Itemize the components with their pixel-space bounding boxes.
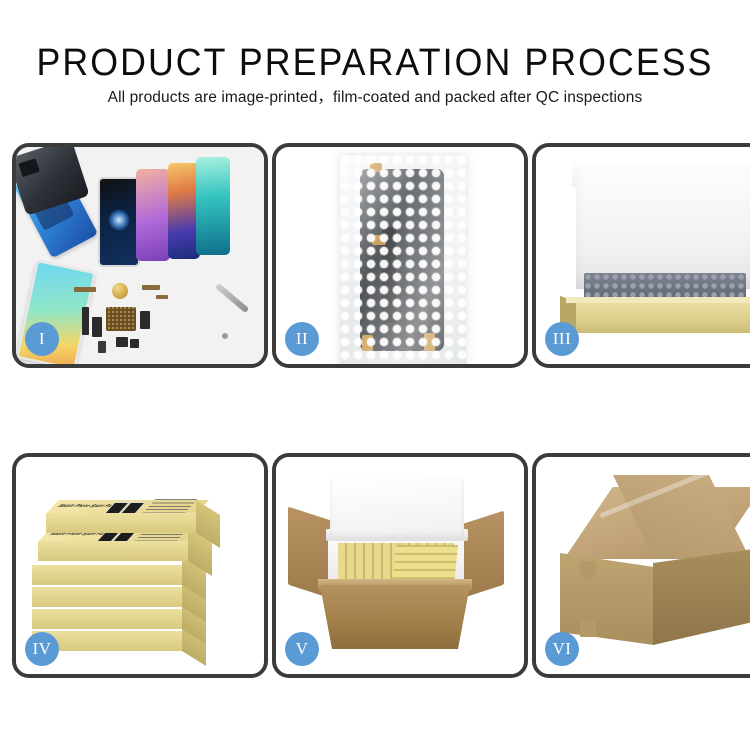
box-stack: Mobile Phone Spare Parts Mobile Phone Sp… — [32, 479, 242, 661]
process-step-card-2[interactable]: II — [272, 143, 528, 368]
process-step-card-1[interactable]: I — [12, 143, 268, 368]
stacked-box-2: Mobile Phone Spare Parts — [38, 541, 188, 561]
foam-cooler-lid — [330, 477, 464, 539]
page-subtitle: All products are image-printed，film-coat… — [0, 88, 750, 108]
carton-tape-lower — [580, 621, 596, 637]
process-step-card-6[interactable]: VI — [532, 453, 750, 678]
carton-left-face — [560, 553, 654, 645]
step-badge-1: I — [25, 322, 59, 356]
screwdriver-icon — [215, 283, 249, 313]
step-badge-6: VI — [545, 632, 579, 666]
chip-part-2 — [142, 285, 160, 290]
chip-part-3 — [156, 295, 168, 299]
product-preparation-infographic: PRODUCT PREPARATION PROCESS All products… — [0, 0, 750, 750]
carton-tape-upper — [580, 561, 596, 579]
page-title: PRODUCT PREPARATION PROCESS — [23, 42, 728, 84]
process-step-grid: I II III — [12, 143, 738, 678]
phone-display-black — [98, 177, 140, 267]
step-badge-2: II — [285, 322, 319, 356]
small-part-2 — [130, 339, 139, 348]
stacked-box-1: Mobile Phone Spare Parts — [46, 513, 196, 533]
step-badge-5: V — [285, 632, 319, 666]
gold-component-icon — [112, 283, 128, 299]
stacked-box-4 — [32, 587, 182, 607]
yellow-box-tray — [566, 299, 750, 333]
box-front-edge — [566, 297, 750, 303]
carton-body — [320, 585, 470, 649]
connector-grid-icon — [106, 307, 136, 331]
step-badge-3: III — [545, 322, 579, 356]
process-step-card-4[interactable]: Mobile Phone Spare Parts Mobile Phone Sp… — [12, 453, 268, 678]
flex-cable-2 — [92, 317, 102, 337]
flex-cable-4 — [116, 337, 128, 347]
carton-right-face — [653, 549, 750, 645]
flex-cable-3 — [140, 311, 150, 329]
phone-teal — [196, 157, 230, 255]
film-gloss-overlay — [340, 155, 466, 364]
chip-part-1 — [74, 287, 96, 292]
screw-part — [222, 333, 228, 339]
flex-cable-1 — [82, 307, 89, 335]
stacked-box-3 — [32, 565, 182, 585]
process-step-card-5[interactable]: V — [272, 453, 528, 678]
phone-purple — [136, 169, 170, 261]
foam-back-panel — [576, 167, 750, 289]
small-part-1 — [98, 341, 106, 353]
stacked-box-5 — [32, 609, 182, 629]
process-step-card-3[interactable]: III — [532, 143, 750, 368]
step-badge-4: IV — [25, 632, 59, 666]
